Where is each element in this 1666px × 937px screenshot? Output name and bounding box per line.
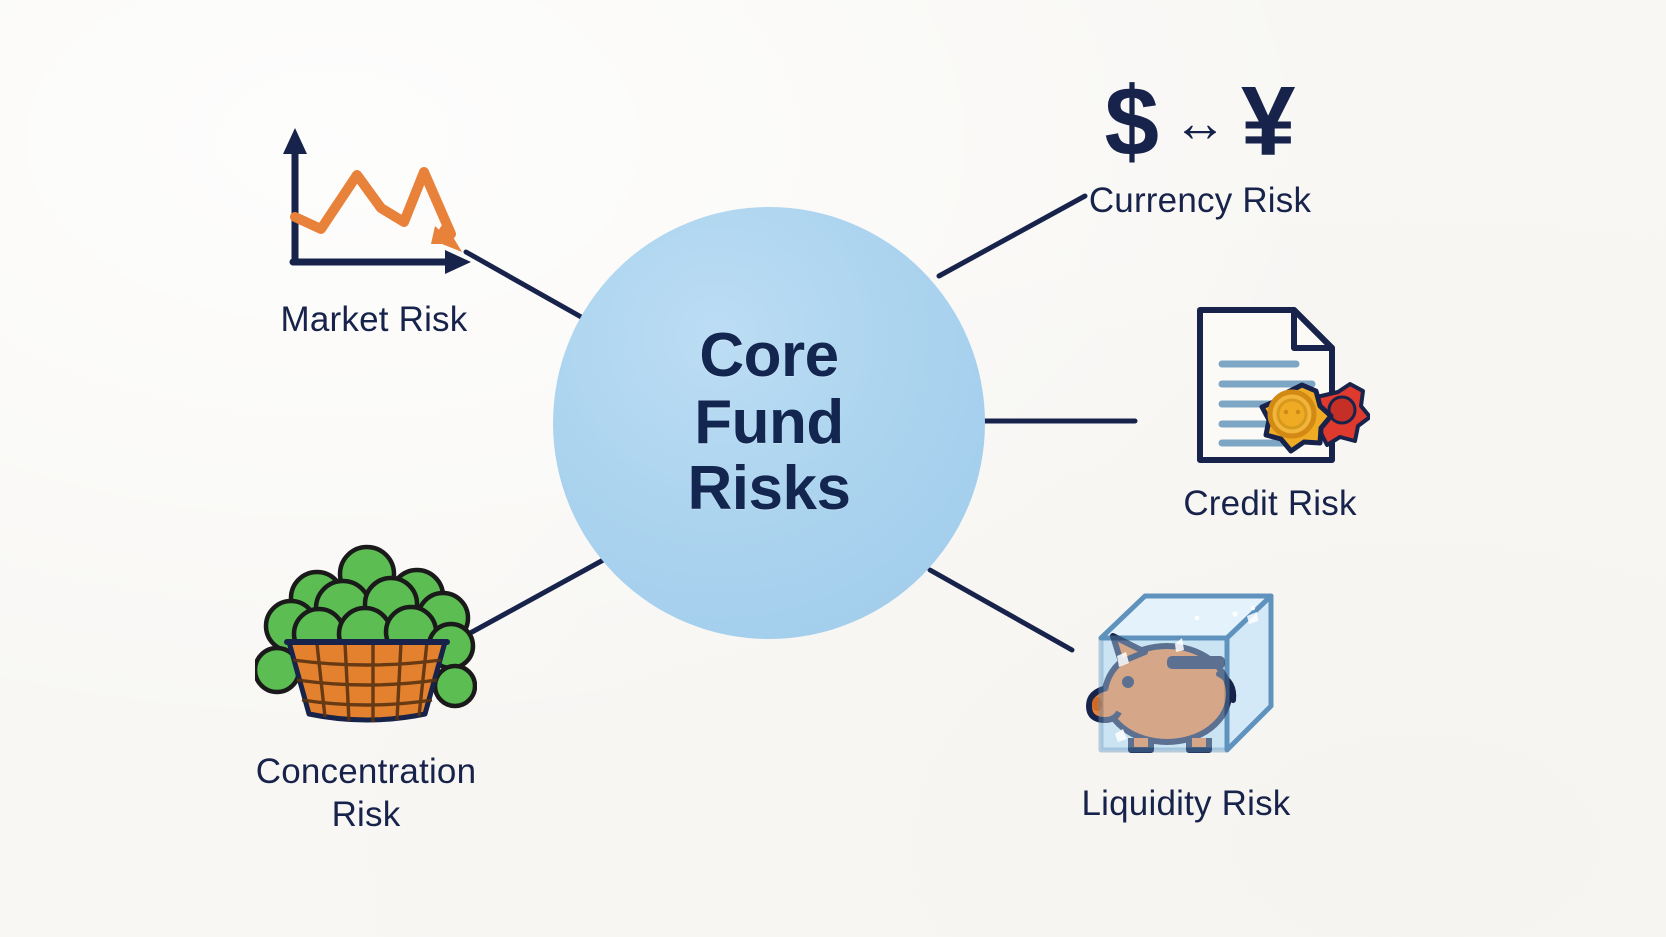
node-currency-risk[interactable]: $ ↔ ¥ Currency Risk xyxy=(1040,72,1360,223)
node-liquidity-risk-label: Liquidity Risk xyxy=(1082,783,1291,826)
dollar-sign-icon: $ xyxy=(1104,72,1159,170)
bidirectional-arrow-icon: ↔ xyxy=(1173,96,1227,150)
page-title: Core Fund Risks xyxy=(688,323,851,524)
node-credit-risk[interactable]: Credit Risk xyxy=(1125,300,1415,526)
frozen-piggy-bank-icon xyxy=(1071,578,1301,773)
declining-line-chart-icon xyxy=(269,122,479,287)
currency-exchange-icon: $ ↔ ¥ xyxy=(1104,72,1295,170)
node-concentration-risk-label: Concentration Risk xyxy=(256,751,477,836)
diagram-canvas: Core Fund Risks Market Risk $ ↔ ¥ C xyxy=(0,0,1666,937)
node-market-risk-label: Market Risk xyxy=(281,299,468,342)
basket-of-eggs-icon xyxy=(255,538,477,733)
sealed-document-icon xyxy=(1170,300,1370,475)
yen-sign-icon: ¥ xyxy=(1241,72,1296,170)
hub-circle[interactable]: Core Fund Risks xyxy=(553,207,985,639)
node-liquidity-risk[interactable]: Liquidity Risk xyxy=(1036,578,1336,826)
node-credit-risk-label: Credit Risk xyxy=(1183,483,1356,526)
node-concentration-risk[interactable]: Concentration Risk xyxy=(226,538,506,836)
node-currency-risk-label: Currency Risk xyxy=(1089,180,1311,223)
node-market-risk[interactable]: Market Risk xyxy=(243,122,505,342)
